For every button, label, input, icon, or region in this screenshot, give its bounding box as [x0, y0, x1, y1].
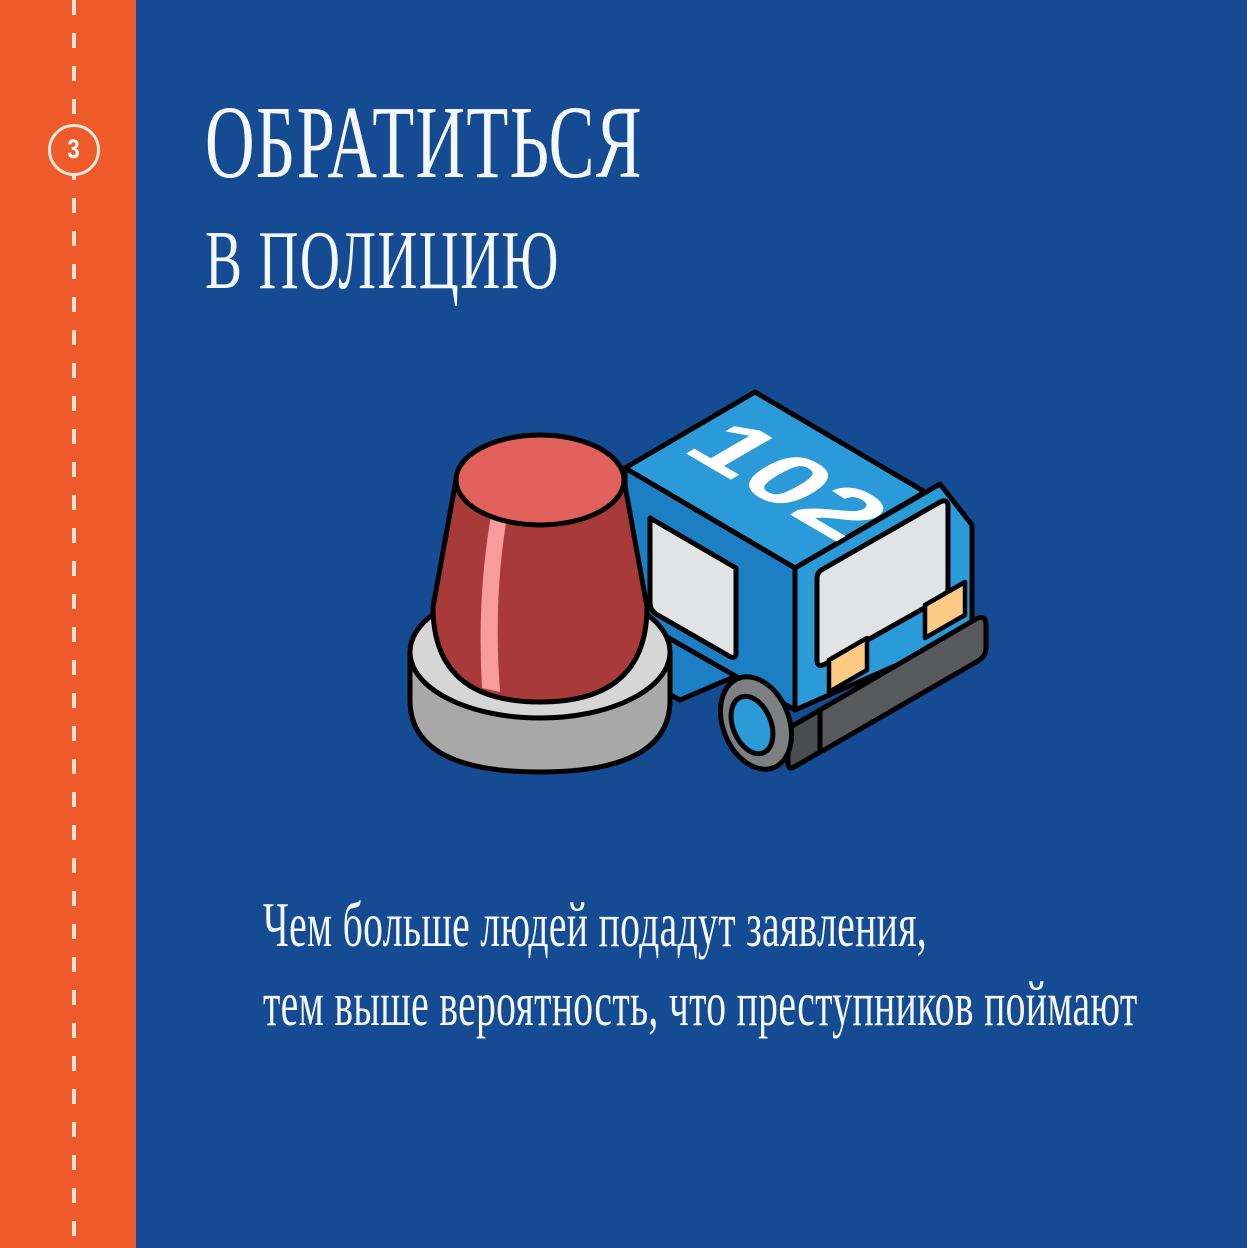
poster-canvas: 3 ОБРАТИТЬСЯ В ПОЛИЦИЮ	[0, 0, 1247, 1248]
illustration-svg: 102	[380, 370, 1000, 800]
title-line-primary: ОБРАТИТЬСЯ	[205, 92, 799, 194]
button-dome-top	[456, 435, 624, 525]
step-number-label: 3	[68, 136, 80, 165]
step-rail: 3	[0, 0, 136, 1248]
police-van-icon: 102	[625, 392, 986, 780]
page-title: ОБРАТИТЬСЯ В ПОЛИЦИЮ	[205, 92, 1105, 302]
caption-line-2: тем выше вероятность, что преступников п…	[263, 972, 833, 1036]
dashed-line-decoration	[72, 0, 76, 1248]
caption-line-1: Чем больше людей подадут заявления,	[263, 893, 833, 957]
caption-block: Чем больше людей подадут заявления, тем …	[263, 893, 1183, 1036]
title-line-secondary: В ПОЛИЦИЮ	[205, 220, 799, 302]
step-number-badge: 3	[48, 124, 100, 176]
illustration-police-van-and-button: 102	[380, 370, 1000, 800]
